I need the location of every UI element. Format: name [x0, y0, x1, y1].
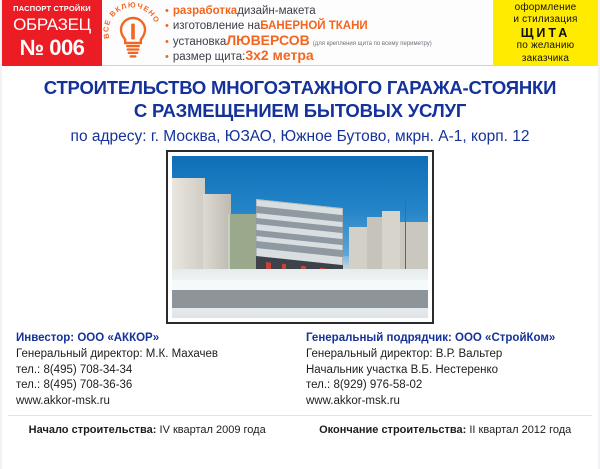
end-date-item: Окончание строительства: II квартал 2012… [319, 424, 571, 436]
building-right-2 [367, 217, 382, 269]
bullet-item-3: • установка ЛЮВЕРСОВ (для крепления щита… [165, 33, 487, 48]
site-photo [172, 156, 428, 318]
yellow-line-4: по желанию [493, 40, 598, 52]
bullet-2-strong: БАНЕРНОЙ ТКАНИ [260, 19, 367, 34]
bullet-3-note: (для крепления щита по всему периметру) [313, 37, 432, 52]
yellow-line-1: оформление [493, 2, 598, 14]
building-left-tower [203, 194, 231, 272]
bullet-3-lead: установка [173, 35, 226, 50]
contractor-heading: Генеральный подрядчик: ООО «СтройКом» [306, 330, 584, 346]
project-title-line-1: СТРОИТЕЛЬСТВО МНОГОЭТАЖНОГО ГАРАЖА-СТОЯН… [12, 76, 588, 99]
bullet-1-strong: разработка [173, 4, 237, 19]
construction-passport-banner: ПАСПОРТ СТРОЙКИ ОБРАЗЕЦ № 006 ВСЕ ВКЛЮЧЕ… [0, 0, 600, 469]
contractor-column: Генеральный подрядчик: ООО «СтройКом» Ге… [300, 330, 584, 409]
bullet-4-lead: размер щита: [173, 50, 245, 65]
photo-frame [166, 150, 434, 324]
sample-stamp-block: ПАСПОРТ СТРОЙКИ ОБРАЗЕЦ № 006 [2, 0, 102, 66]
light-pole [405, 198, 406, 269]
investor-phone-2: тел.: 8(495) 708-36-36 [16, 378, 300, 394]
yellow-line-3: ЩИТА [493, 27, 598, 41]
bullet-4-strong: 3х2 метра [245, 48, 313, 63]
project-title-line-2: С РАЗМЕЩЕНИЕМ БЫТОВЫХ УСЛУГ [12, 99, 588, 122]
bullet-dot-icon: • [165, 35, 169, 50]
start-date-item: Начало строительства: IV квартал 2009 го… [29, 424, 266, 436]
sample-number: № 006 [2, 35, 102, 60]
contractor-site-manager: Начальник участка В.Б. Нестеренко [306, 363, 584, 379]
bullet-dot-icon: • [165, 50, 169, 65]
all-included-badge: ВСЕ ВКЛЮЧЕНО [102, 0, 164, 66]
contractor-website[interactable]: www.akkor-msk.ru [306, 394, 584, 410]
contacts-section: Инвестор: ООО «АККОР» Генеральный директ… [2, 324, 598, 409]
end-date-value: II квартал 2012 года [469, 424, 571, 436]
bullet-2-lead: изготовление на [173, 19, 260, 34]
sample-label: ОБРАЗЕЦ [2, 14, 102, 35]
yellow-line-2: и стилизация [493, 14, 598, 26]
start-date-label: Начало строительства: [29, 424, 157, 436]
customization-note-panel: оформление и стилизация ЩИТА по желанию … [493, 0, 598, 66]
investor-website[interactable]: www.akkor-msk.ru [16, 394, 300, 410]
investor-heading: Инвестор: ООО «АККОР» [16, 330, 300, 346]
bullet-1-rest: дизайн-макета [237, 4, 315, 19]
header-bar: ПАСПОРТ СТРОЙКИ ОБРАЗЕЦ № 006 ВСЕ ВКЛЮЧЕ… [2, 0, 598, 66]
yellow-line-5: заказчика [493, 53, 598, 65]
investor-director: Генеральный директор: М.К. Махачев [16, 347, 300, 363]
passport-kicker: ПАСПОРТ СТРОЙКИ [2, 3, 102, 14]
bullet-item-2: • изготовление на БАНЕРНОЙ ТКАНИ [165, 19, 487, 34]
end-date-label: Окончание строительства: [319, 424, 466, 436]
footer-dates: Начало строительства: IV квартал 2009 го… [2, 416, 598, 436]
bullet-3-strong: ЛЮВЕРСОВ [226, 33, 309, 48]
bullet-item-1: • разработка дизайн-макета [165, 4, 487, 19]
investor-phone-1: тел.: 8(495) 708-34-34 [16, 363, 300, 379]
project-title-block: СТРОИТЕЛЬСТВО МНОГОЭТАЖНОГО ГАРАЖА-СТОЯН… [2, 66, 598, 149]
photo-area [2, 149, 598, 324]
bullet-dot-icon: • [165, 4, 169, 19]
project-address: по адресу: г. Москва, ЮЗАО, Южное Бутово… [12, 125, 588, 149]
contractor-director: Генеральный директор: В.Р. Вальтер [306, 347, 584, 363]
investor-column: Инвестор: ООО «АККОР» Генеральный директ… [16, 330, 300, 409]
start-date-value: IV квартал 2009 года [160, 424, 266, 436]
building-right-1 [349, 227, 367, 269]
lightbulb-icon: ВСЕ ВКЛЮЧЕНО [102, 0, 164, 66]
road [172, 290, 428, 308]
service-bullet-list: • разработка дизайн-макета • изготовлени… [165, 4, 487, 62]
contractor-phone: тел.: 8(929) 976-58-02 [306, 378, 584, 394]
bullet-dot-icon: • [165, 19, 169, 34]
building-right-3 [382, 211, 400, 269]
building-left-near [172, 178, 205, 272]
